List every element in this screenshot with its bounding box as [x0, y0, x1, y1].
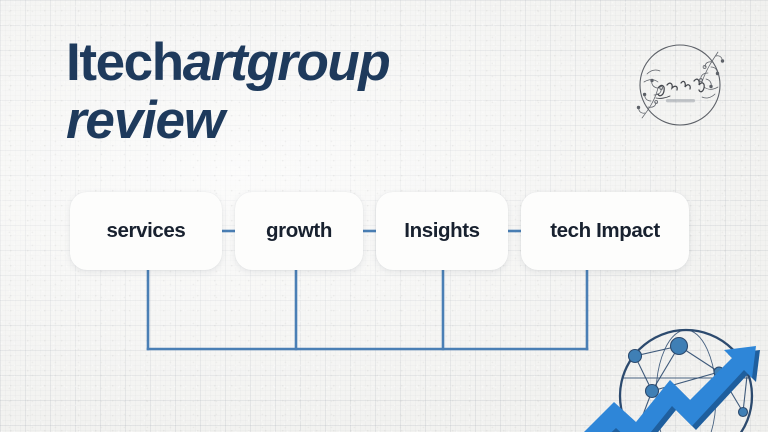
slide-canvas: Itechartgroup review services growth Ins… [0, 0, 768, 432]
card-label: tech Impact [550, 219, 660, 243]
network-node [629, 350, 642, 363]
wreath-ring-icon [640, 45, 720, 125]
card-label: services [107, 219, 186, 243]
network-node [646, 385, 659, 398]
title-part-upright: Itech [66, 33, 183, 92]
card-services[interactable]: services [70, 192, 222, 270]
title-part-italic: artgroup [183, 33, 390, 92]
card-tech-impact[interactable]: tech Impact [521, 192, 689, 270]
card-label: growth [266, 219, 332, 243]
title-line-1: Itechartgroup [66, 36, 586, 89]
page-title: Itechartgroup review [66, 36, 586, 147]
network-node [671, 338, 688, 355]
card-label: Insights [404, 219, 479, 243]
logo-script-text [656, 79, 704, 98]
network-node [739, 408, 748, 417]
network-growth-arrow-graphic [578, 300, 768, 432]
title-line-2: review [66, 94, 586, 147]
card-growth[interactable]: growth [235, 192, 363, 270]
logo-subtitle-text [666, 99, 695, 102]
floral-wreath-logo [622, 28, 738, 144]
card-insights[interactable]: Insights [376, 192, 508, 270]
